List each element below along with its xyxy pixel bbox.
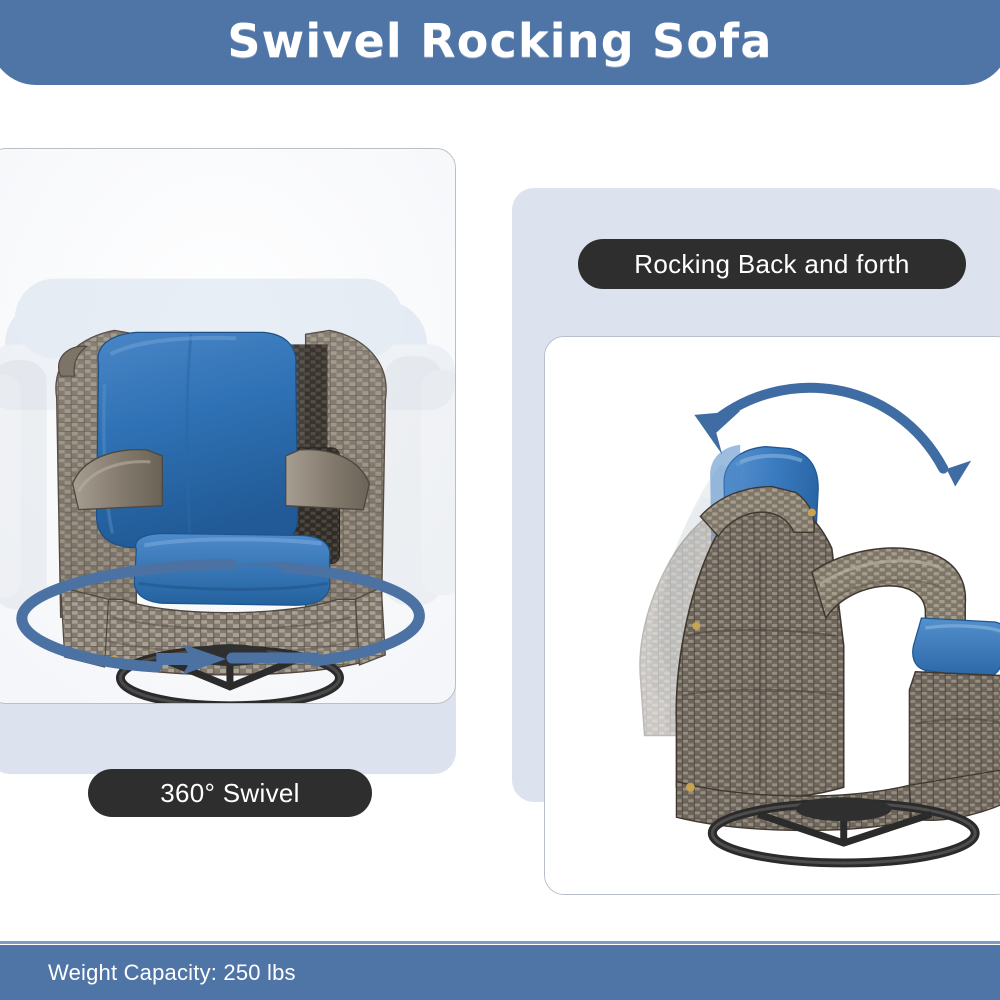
weight-capacity-text: Weight Capacity: 250 lbs <box>0 960 296 986</box>
motion-ghost-left <box>0 360 47 609</box>
swivel-pill-label: 360° Swivel <box>160 778 299 809</box>
side-view-chair-illustration <box>545 337 1000 894</box>
header-banner: Swivel Rocking Sofa <box>0 0 1000 85</box>
infographic-page: Swivel Rocking Sofa <box>0 0 1000 1000</box>
page-title: Swivel Rocking Sofa <box>227 14 772 85</box>
back-cushion <box>97 332 298 547</box>
rocking-feature-pill: Rocking Back and forth <box>578 239 966 289</box>
rocking-pill-label: Rocking Back and forth <box>634 249 909 280</box>
motion-ghost-right <box>383 356 455 605</box>
front-view-chair-illustration <box>0 149 455 703</box>
footer-divider <box>0 941 1000 944</box>
swivel-feature-pill: 360° Swivel <box>88 769 372 817</box>
footer-bar: Weight Capacity: 250 lbs <box>0 945 1000 1000</box>
right-product-photo-card <box>544 336 1000 895</box>
left-product-photo-card <box>0 148 456 704</box>
